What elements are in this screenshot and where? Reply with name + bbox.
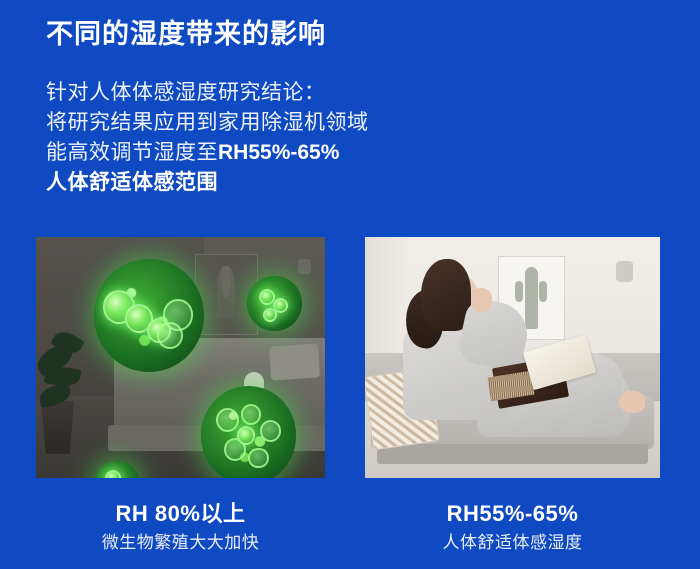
photo-row xyxy=(0,237,700,478)
intro-line-4: 人体舒适体感范围 xyxy=(46,168,369,198)
caption-high-humidity: RH 80%以上 微生物繁殖大大加快 xyxy=(36,500,325,555)
microbe-ring xyxy=(157,322,183,349)
caption-title-comfort: RH55%-65% xyxy=(365,500,660,528)
microbe-ring xyxy=(260,420,281,442)
slide-root: 不同的湿度带来的影响 针对人体体感湿度研究结论： 将研究结果应用到家用除湿机领域… xyxy=(0,0,700,569)
dark-living-room-illustration xyxy=(36,237,325,478)
microbe-ring xyxy=(216,408,239,432)
microbe-ring xyxy=(241,404,261,425)
woman-hand xyxy=(471,288,492,312)
cactus-icon xyxy=(525,267,538,329)
page-title: 不同的湿度带来的影响 xyxy=(46,18,326,50)
wall-thermostat-icon xyxy=(616,261,633,282)
caption-comfort-humidity: RH55%-65% 人体舒适体感湿度 xyxy=(365,500,660,555)
microbe-bud xyxy=(237,426,255,445)
wall-sensor-icon xyxy=(298,259,311,274)
microbe-cluster-small xyxy=(247,276,302,331)
caption-subtitle-high: 微生物繁殖大大加快 xyxy=(36,531,325,555)
bright-living-room-illustration xyxy=(365,237,660,478)
microbe-cluster-large xyxy=(94,259,204,372)
photo-comfort-humidity xyxy=(365,237,660,478)
intro-line-1: 针对人体体感湿度研究结论： xyxy=(46,78,369,108)
intro-line-2: 将研究结果应用到家用除湿机领域 xyxy=(46,108,369,138)
intro-paragraph: 针对人体体感湿度研究结论： 将研究结果应用到家用除湿机领域 能高效调节湿度至RH… xyxy=(46,78,369,198)
microbe-bud xyxy=(105,470,121,478)
photo-high-humidity xyxy=(36,237,325,478)
microbe-ring xyxy=(248,448,268,469)
microbe-cluster-medium xyxy=(201,386,296,478)
intro-line-3-prefix: 能高效调节湿度至 xyxy=(46,141,218,164)
intro-line-3: 能高效调节湿度至RH55%-65% xyxy=(46,138,369,168)
sofa-cushion xyxy=(269,344,320,381)
microbe-bud xyxy=(263,308,277,322)
caption-title-high: RH 80%以上 xyxy=(36,500,325,528)
sofa-base xyxy=(377,444,648,463)
humidity-range-highlight: RH55%-65% xyxy=(218,141,339,164)
woman-foot xyxy=(619,391,646,413)
caption-subtitle-comfort: 人体舒适体感湿度 xyxy=(365,531,660,555)
